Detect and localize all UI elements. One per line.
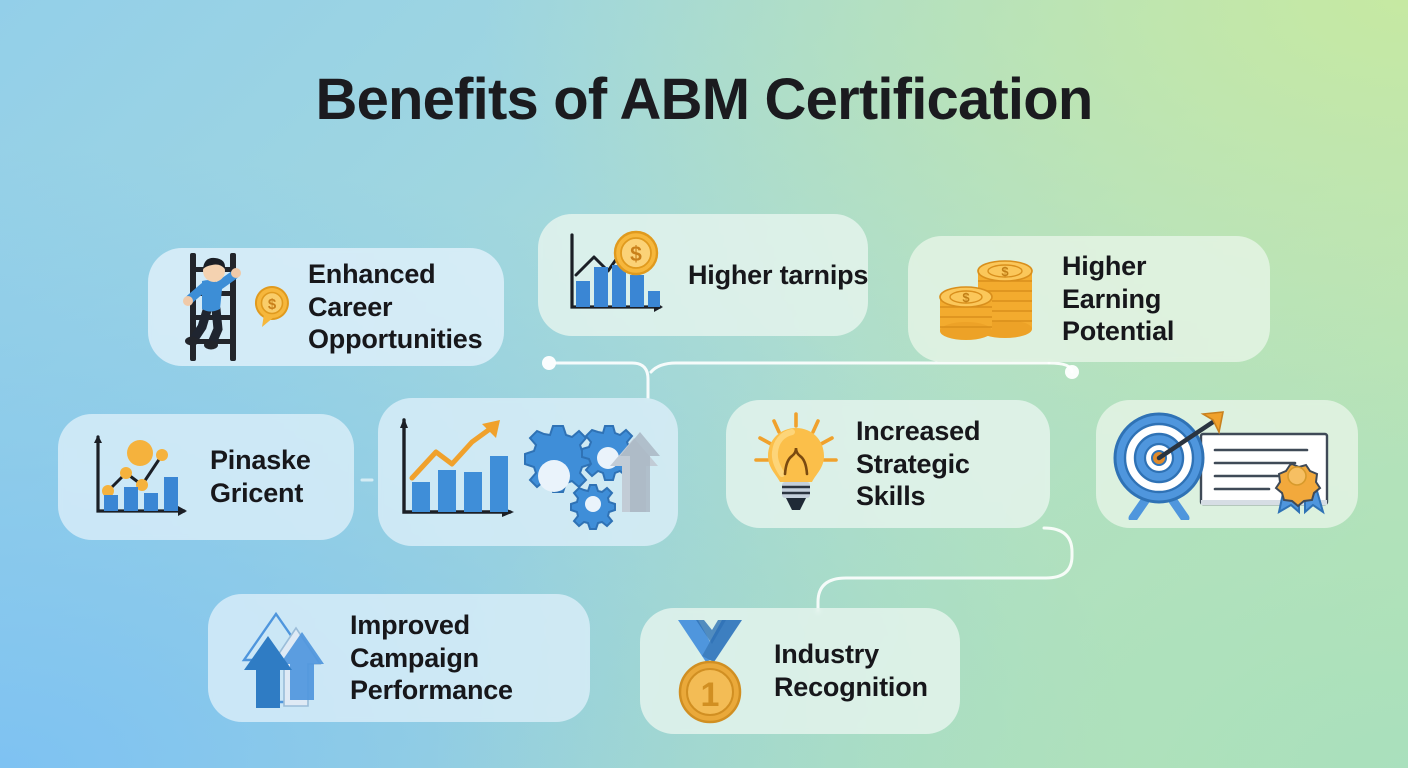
card-pinaske-gricent[interactable]: Pinaske Gricent [58,414,354,540]
card-label: Enhanced Career Opportunities [308,258,482,357]
connector-dot-left [542,356,556,370]
up-arrows-icon [234,602,334,714]
coin-stacks-icon: $ $ [934,249,1046,349]
card-label: Pinaske Gricent [210,444,328,510]
card-label: Higher tarnips [688,259,868,292]
card-enhanced-career-opportunities[interactable]: $ Enhanced Career Opportunities [148,248,504,366]
connector-dot-right [1065,365,1079,379]
bar-chart-coin-icon: $ [564,229,672,321]
chart-gears-arrow-icon [390,408,666,536]
gold-medal-icon: 1 [666,616,758,726]
medal-number: 1 [701,676,720,714]
target-certificate-icon [1109,408,1345,520]
connector-strategic-to-industry [818,528,1072,612]
infographic-canvas: Benefits of ABM Certification [0,0,1408,768]
card-label: Higher Earning Potential [1062,250,1244,349]
card-higher-tarnips[interactable]: $ Higher tarnips [538,214,868,336]
card-label: Improved Campaign Performance [350,609,564,708]
connector-career-to-growth [556,363,648,398]
card-growth-gears[interactable] [378,398,678,546]
lightbulb-icon [752,412,840,516]
card-industry-recognition[interactable]: 1 Industry Recognition [640,608,960,734]
connector-strategic-elbow [1049,363,1072,372]
coin-symbol: $ [630,243,642,266]
coin-speech-bubble-icon: $ [252,284,292,330]
coin-symbol: $ [268,296,277,313]
card-improved-campaign-performance[interactable]: Improved Campaign Performance [208,594,590,722]
page-title: Benefits of ABM Certification [0,66,1408,133]
card-higher-earning-potential[interactable]: $ $ [908,236,1270,362]
ladder-climber-icon [174,251,258,363]
card-increased-strategic-skills[interactable]: Increased Strategic Skills [726,400,1050,528]
coin-symbol: $ [1001,264,1009,279]
card-label: Industry Recognition [774,638,934,704]
coin-symbol: $ [962,290,970,305]
connector-growth-to-strategic [651,363,1049,372]
card-target-certificate[interactable] [1096,400,1358,528]
card-label: Increased Strategic Skills [856,415,1024,514]
line-bar-chart-icon [84,429,194,525]
